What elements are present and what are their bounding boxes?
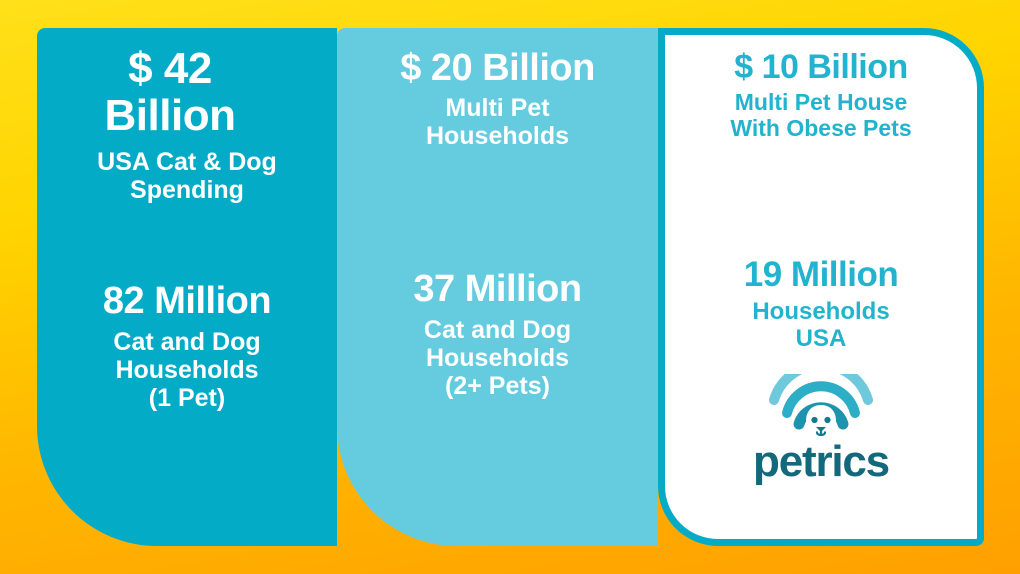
stat-block-households-37m: 37 Million Cat and Dog Households (2+ Pe… — [337, 269, 658, 399]
stat-label-line-2: With Obese Pets — [665, 116, 977, 142]
stat-label-line-3: (1 Pet) — [37, 384, 337, 412]
stat-label-line-3: (2+ Pets) — [337, 372, 658, 400]
stat-label-two-plus-pets-households: Cat and Dog Households (2+ Pets) — [337, 316, 658, 400]
stat-label-line-1: Multi Pet — [337, 94, 658, 122]
stat-block-spending-20b: $ 20 Billion Multi Pet Households — [337, 48, 658, 150]
stat-value-42-billion: $ 42 Billion — [37, 46, 337, 139]
infographic-page: { "theme": { "background_start": "#FFE01… — [0, 0, 1020, 574]
stat-label-line-1: Households — [665, 299, 977, 326]
panel-obese-pets: $ 10 Billion Multi Pet House With Obese … — [658, 28, 984, 546]
stat-label-line-1: USA Cat & Dog — [53, 148, 321, 176]
stat-value-10-billion: $ 10 Billion — [665, 49, 977, 85]
stat-block-spending-10b: $ 10 Billion Multi Pet House With Obese … — [665, 49, 977, 142]
wifi-dog-face-icon — [768, 374, 874, 436]
stat-label-line-1: Cat and Dog — [337, 316, 658, 344]
panel-usa-cat-dog-spending: $ 42 Billion USA Cat & Dog Spending 82 M… — [37, 28, 337, 546]
petrics-wordmark: petrics — [753, 440, 889, 484]
stat-value-82-million: 82 Million — [37, 281, 337, 321]
stat-label-line-1: Cat and Dog — [37, 328, 337, 356]
stat-value-line-1: $ 42 — [55, 46, 285, 93]
stat-value-37-million: 37 Million — [337, 269, 658, 309]
stat-label-line-2: Households — [337, 122, 658, 150]
stat-label-usa-cat-dog-spending: USA Cat & Dog Spending — [37, 148, 337, 204]
stat-label-line-2: Spending — [53, 176, 321, 204]
panel-multi-pet-households: $ 20 Billion Multi Pet Households 37 Mil… — [337, 28, 658, 546]
stat-block-households-82m: 82 Million Cat and Dog Households (1 Pet… — [37, 281, 337, 411]
stat-block-spending-42b: $ 42 Billion USA Cat & Dog Spending — [37, 46, 337, 204]
stat-value-19-million: 19 Million — [665, 256, 977, 293]
stat-label-obese-pets: Multi Pet House With Obese Pets — [665, 90, 977, 142]
stat-label-line-2: Households — [37, 356, 337, 384]
petrics-logo: petrics — [753, 374, 889, 484]
stats-board: $ 42 Billion USA Cat & Dog Spending 82 M… — [37, 28, 984, 546]
stat-label-line-2: Households — [337, 344, 658, 372]
stat-label-line-1: Multi Pet House — [665, 90, 977, 116]
stat-label-one-pet-households: Cat and Dog Households (1 Pet) — [37, 328, 337, 412]
stat-label-line-2: USA — [665, 326, 977, 353]
stat-label-households-usa: Households USA — [665, 299, 977, 353]
stat-label-multi-pet-households: Multi Pet Households — [337, 94, 658, 150]
stat-block-households-19m: 19 Million Households USA — [665, 256, 977, 353]
stat-value-20-billion: $ 20 Billion — [337, 48, 658, 88]
stat-value-line-2: Billion — [55, 93, 285, 140]
